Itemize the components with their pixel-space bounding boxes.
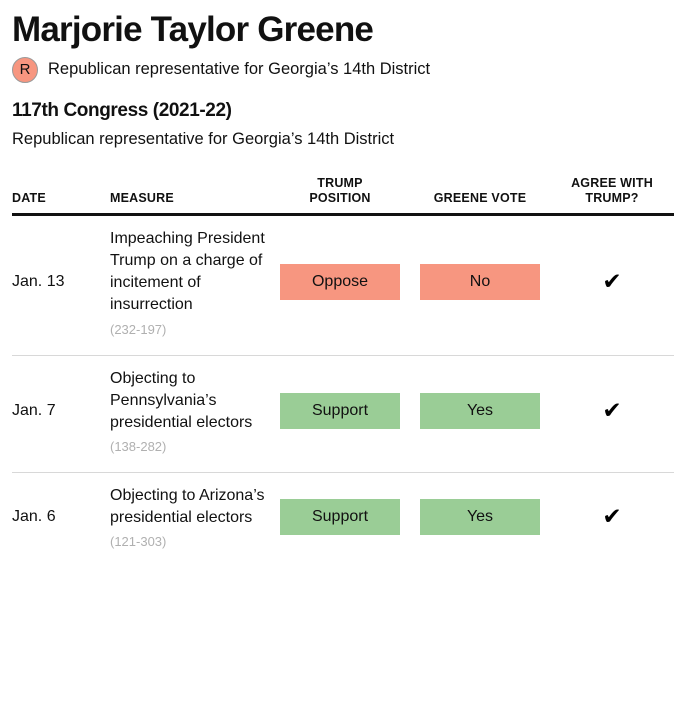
page-title: Marjorie Taylor Greene <box>12 12 674 49</box>
measure-vote-tally: (121-303) <box>110 534 270 549</box>
cell-greene-vote: Yes <box>410 355 550 472</box>
agree-header-line-1: AGREE WITH <box>571 176 653 190</box>
measure-vote-tally: (138-282) <box>110 439 270 454</box>
votes-table: DATE MEASURE TRUMP POSITION GREENE VOTE … <box>12 176 674 567</box>
column-header-agree-with-trump: AGREE WITH TRUMP? <box>550 176 674 215</box>
trump-position-line-2: POSITION <box>309 191 370 205</box>
agree-header-line-2: TRUMP? <box>585 191 638 205</box>
cell-measure: Objecting to Pennsylvania’s presidential… <box>110 355 270 472</box>
column-header-greene-vote: GREENE VOTE <box>410 176 550 215</box>
header-row: DATE MEASURE TRUMP POSITION GREENE VOTE … <box>12 176 674 215</box>
cell-trump-position: Support <box>270 355 410 472</box>
cell-trump-position: Oppose <box>270 215 410 355</box>
cell-measure: Impeaching President Trump on a charge o… <box>110 215 270 355</box>
table-row: Jan. 13 Impeaching President Trump on a … <box>12 215 674 355</box>
cell-agree-with-trump: ✔ <box>550 355 674 472</box>
measure-vote-tally: (232-197) <box>110 322 270 337</box>
congress-subtitle: Republican representative for Georgia’s … <box>12 130 674 149</box>
cell-agree-with-trump: ✔ <box>550 215 674 355</box>
greene-vote-badge: Yes <box>420 499 540 535</box>
column-header-measure: MEASURE <box>110 176 270 215</box>
cell-date: Jan. 7 <box>12 355 110 472</box>
trump-position-badge: Support <box>280 499 400 535</box>
masthead: Marjorie Taylor Greene R Republican repr… <box>12 0 674 83</box>
cell-trump-position: Support <box>270 472 410 567</box>
voting-record-page: Marjorie Taylor Greene R Republican repr… <box>0 0 686 703</box>
cell-measure: Objecting to Arizona’s presidential elec… <box>110 472 270 567</box>
checkmark-icon: ✔ <box>602 399 621 422</box>
measure-description: Impeaching President Trump on a charge o… <box>110 228 270 316</box>
checkmark-icon: ✔ <box>602 505 621 528</box>
cell-agree-with-trump: ✔ <box>550 472 674 567</box>
column-header-trump-position: TRUMP POSITION <box>270 176 410 215</box>
column-header-date: DATE <box>12 176 110 215</box>
greene-vote-badge: Yes <box>420 393 540 429</box>
party-badge-icon: R <box>12 57 38 83</box>
table-row: Jan. 7 Objecting to Pennsylvania’s presi… <box>12 355 674 472</box>
party-affiliation-line: R Republican representative for Georgia’… <box>12 57 674 83</box>
cell-date: Jan. 6 <box>12 472 110 567</box>
measure-description: Objecting to Arizona’s presidential elec… <box>110 485 270 529</box>
table-row: Jan. 6 Objecting to Arizona’s presidenti… <box>12 472 674 567</box>
cell-date: Jan. 13 <box>12 215 110 355</box>
trump-position-badge: Oppose <box>280 264 400 300</box>
trump-position-line-1: TRUMP <box>317 176 362 190</box>
congress-title: 117th Congress (2021-22) <box>12 100 674 122</box>
party-description: Republican representative for Georgia’s … <box>48 60 430 79</box>
congress-section: 117th Congress (2021-22) Republican repr… <box>12 100 674 149</box>
checkmark-icon: ✔ <box>602 270 621 293</box>
cell-greene-vote: Yes <box>410 472 550 567</box>
trump-position-badge: Support <box>280 393 400 429</box>
votes-table-body: Jan. 13 Impeaching President Trump on a … <box>12 215 674 567</box>
cell-greene-vote: No <box>410 215 550 355</box>
greene-vote-badge: No <box>420 264 540 300</box>
measure-description: Objecting to Pennsylvania’s presidential… <box>110 368 270 434</box>
votes-table-header: DATE MEASURE TRUMP POSITION GREENE VOTE … <box>12 176 674 215</box>
